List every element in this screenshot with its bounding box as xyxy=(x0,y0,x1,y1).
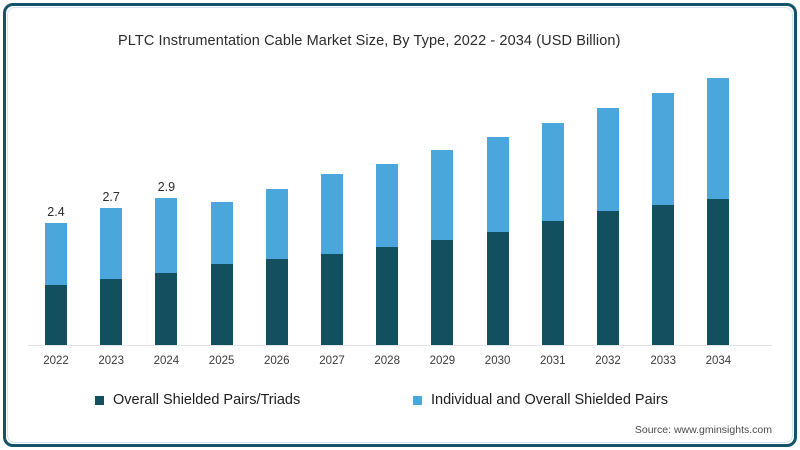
x-tick-2025: 2025 xyxy=(192,355,252,367)
bar-segment-overall-shielded-2031 xyxy=(542,221,564,346)
bar-column-2024: 2.9 xyxy=(155,198,177,346)
bar-value-label-2023: 2.7 xyxy=(81,190,141,204)
bar-segment-individual-overall-shielded-2031 xyxy=(542,123,564,221)
bar-segment-individual-overall-shielded-2027 xyxy=(321,174,343,253)
bar-column-2029 xyxy=(431,150,453,346)
bar-segment-overall-shielded-2032 xyxy=(597,211,619,346)
x-axis-tick-labels: 2022202320242025202620272028202920302031… xyxy=(28,355,772,375)
x-tick-2031: 2031 xyxy=(523,355,583,367)
bar-segment-overall-shielded-2024 xyxy=(155,273,177,346)
bar-value-label-2024: 2.9 xyxy=(136,180,196,194)
chart-legend: Overall Shielded Pairs/TriadsIndividual … xyxy=(0,392,800,414)
bar-segment-individual-overall-shielded-2025 xyxy=(211,202,233,264)
x-tick-2022: 2022 xyxy=(26,355,86,367)
bar-series-container: 2.42.72.9 xyxy=(28,70,772,346)
bar-segment-individual-overall-shielded-2029 xyxy=(431,150,453,240)
bar-segment-individual-overall-shielded-2028 xyxy=(376,164,398,247)
bar-column-2023: 2.7 xyxy=(100,208,122,346)
x-tick-2027: 2027 xyxy=(302,355,362,367)
bar-column-2028 xyxy=(376,164,398,346)
bar-column-2030 xyxy=(487,137,509,346)
bar-segment-individual-overall-shielded-2033 xyxy=(652,93,674,205)
bar-column-2034 xyxy=(707,78,729,346)
legend-swatch-icon-2 xyxy=(413,396,422,405)
bar-segment-overall-shielded-2029 xyxy=(431,240,453,346)
bar-segment-overall-shielded-2030 xyxy=(487,232,509,346)
bar-segment-overall-shielded-2023 xyxy=(100,279,122,346)
chart-title: PLTC Instrumentation Cable Market Size, … xyxy=(118,33,621,49)
plot-area: 2.42.72.9 xyxy=(28,70,772,346)
bar-segment-individual-overall-shielded-2032 xyxy=(597,108,619,211)
legend-item-2[interactable]: Individual and Overall Shielded Pairs xyxy=(413,392,668,408)
legend-label-1: Overall Shielded Pairs/Triads xyxy=(113,392,300,408)
bar-column-2026 xyxy=(266,189,288,346)
x-axis-line xyxy=(28,345,772,346)
bar-column-2033 xyxy=(652,93,674,346)
bar-segment-overall-shielded-2025 xyxy=(211,264,233,346)
x-tick-2026: 2026 xyxy=(247,355,307,367)
bar-column-2031 xyxy=(542,123,564,346)
bar-segment-individual-overall-shielded-2030 xyxy=(487,137,509,231)
chart-figure: PLTC Instrumentation Cable Market Size, … xyxy=(0,0,800,450)
legend-label-2: Individual and Overall Shielded Pairs xyxy=(431,392,668,408)
x-tick-2030: 2030 xyxy=(468,355,528,367)
bar-column-2027 xyxy=(321,174,343,346)
bar-segment-individual-overall-shielded-2023 xyxy=(100,208,122,279)
bar-segment-overall-shielded-2026 xyxy=(266,259,288,346)
bar-segment-individual-overall-shielded-2026 xyxy=(266,189,288,259)
x-tick-2033: 2033 xyxy=(633,355,693,367)
bar-column-2032 xyxy=(597,108,619,346)
bar-segment-overall-shielded-2028 xyxy=(376,247,398,346)
bar-segment-overall-shielded-2033 xyxy=(652,205,674,346)
bar-value-label-2022: 2.4 xyxy=(26,205,86,219)
legend-swatch-icon-1 xyxy=(95,396,104,405)
bar-segment-overall-shielded-2022 xyxy=(45,285,67,346)
bar-segment-individual-overall-shielded-2024 xyxy=(155,198,177,273)
bar-segment-individual-overall-shielded-2034 xyxy=(707,78,729,199)
x-tick-2028: 2028 xyxy=(357,355,417,367)
bar-segment-overall-shielded-2027 xyxy=(321,254,343,347)
x-tick-2032: 2032 xyxy=(578,355,638,367)
x-tick-2034: 2034 xyxy=(688,355,748,367)
x-tick-2023: 2023 xyxy=(81,355,141,367)
bar-segment-individual-overall-shielded-2022 xyxy=(45,223,67,285)
bar-column-2022: 2.4 xyxy=(45,223,67,346)
bar-segment-overall-shielded-2034 xyxy=(707,199,729,346)
x-tick-2024: 2024 xyxy=(136,355,196,367)
x-tick-2029: 2029 xyxy=(412,355,472,367)
source-attribution: Source: www.gminsights.com xyxy=(635,424,772,436)
legend-item-1[interactable]: Overall Shielded Pairs/Triads xyxy=(95,392,300,408)
bar-column-2025 xyxy=(211,202,233,346)
